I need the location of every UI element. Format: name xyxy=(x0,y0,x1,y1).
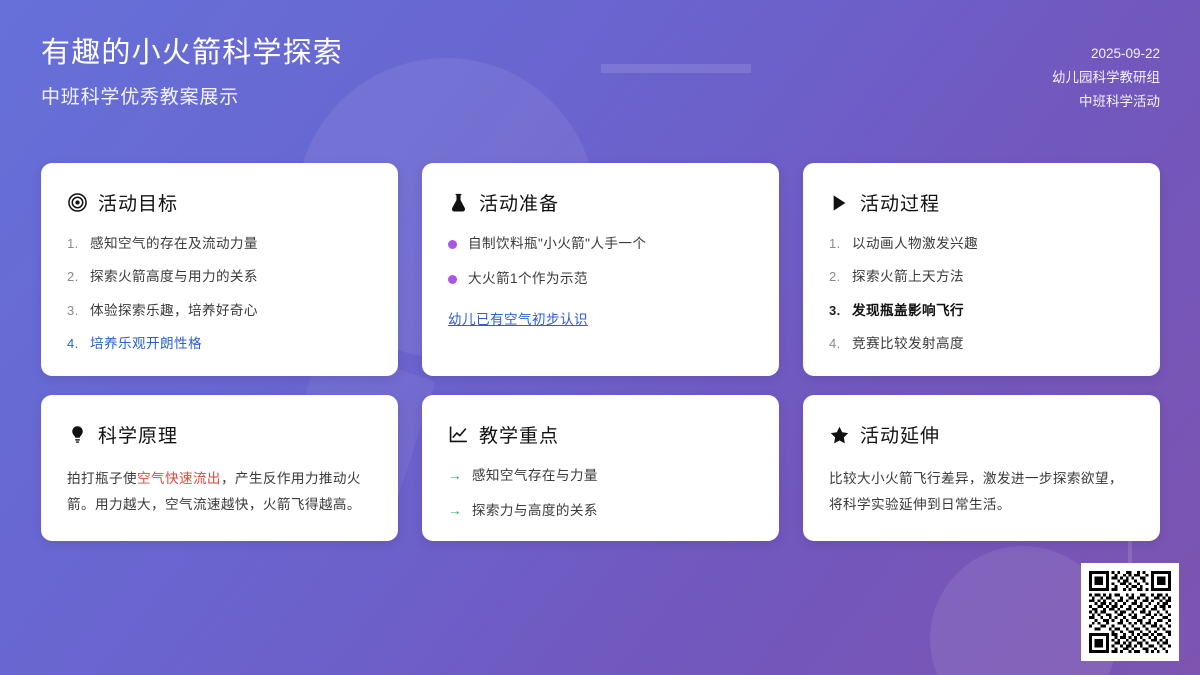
card-activity-process[interactable]: 活动过程 1. 以动画人物激发兴趣 2. 探索火箭上天方法 3. 发现瓶盖影响飞… xyxy=(803,163,1160,376)
card-teaching-focus[interactable]: 教学重点 → 感知空气存在与力量 → 探索力与高度的关系 xyxy=(422,395,779,541)
target-icon xyxy=(67,193,88,212)
header-date: 2025-09-22 xyxy=(1052,42,1160,66)
list-marker: 4. xyxy=(67,334,83,354)
paragraph-part: 拍打瓶子使 xyxy=(67,471,137,486)
list-item: 2. 探索火箭高度与用力的关系 xyxy=(67,267,372,287)
lightbulb-icon xyxy=(67,425,88,444)
bullet-dot-icon xyxy=(448,240,457,249)
line-chart-icon xyxy=(448,426,469,443)
list-text: 以动画人物激发兴趣 xyxy=(852,234,978,254)
list-text: 探索火箭上天方法 xyxy=(852,267,964,287)
principle-paragraph: 拍打瓶子使空气快速流出，产生反作用力推动火箭。用力越大，空气流速越快，火箭飞得越… xyxy=(67,466,372,518)
paragraph-highlight: 空气快速流出 xyxy=(137,471,221,486)
card-grid: 活动目标 1. 感知空气的存在及流动力量 2. 探索火箭高度与用力的关系 3. … xyxy=(41,163,1159,541)
card-header: 活动准备 xyxy=(448,189,753,216)
list-item: → 探索力与高度的关系 xyxy=(448,501,753,521)
list-text: 发现瓶盖影响飞行 xyxy=(852,301,964,321)
card-title: 活动准备 xyxy=(479,189,559,216)
slide-header: 有趣的小火箭科学探索 中班科学优秀教案展示 2025-09-22 幼儿园科学教研… xyxy=(0,0,1200,140)
list-text: 竞赛比较发射高度 xyxy=(852,334,964,354)
list-text: 自制饮料瓶"小火箭"人手一个 xyxy=(468,234,646,254)
header-organization: 幼儿园科学教研组 xyxy=(1052,66,1160,90)
card-activity-extension[interactable]: 活动延伸 比较大小火箭飞行差异，激发进一步探索欲望，将科学实验延伸到日常生活。 xyxy=(803,395,1160,541)
card-activity-goals[interactable]: 活动目标 1. 感知空气的存在及流动力量 2. 探索火箭高度与用力的关系 3. … xyxy=(41,163,398,376)
card-title: 科学原理 xyxy=(98,421,178,448)
header-category: 中班科学活动 xyxy=(1052,90,1160,114)
slide-root: 有趣的小火箭科学探索 中班科学优秀教案展示 2025-09-22 幼儿园科学教研… xyxy=(0,0,1200,675)
card-title: 活动延伸 xyxy=(860,421,940,448)
list-item: 4. 竞赛比较发射高度 xyxy=(829,334,1134,354)
list-text: 培养乐观开朗性格 xyxy=(90,334,202,354)
list-text: 感知空气的存在及流动力量 xyxy=(90,234,258,254)
card-title: 活动目标 xyxy=(98,189,178,216)
focus-list: → 感知空气存在与力量 → 探索力与高度的关系 xyxy=(448,466,753,522)
arrow-right-icon: → xyxy=(448,501,462,521)
list-marker: 2. xyxy=(67,267,83,287)
header-meta: 2025-09-22 幼儿园科学教研组 中班科学活动 xyxy=(1052,34,1160,114)
card-header: 活动目标 xyxy=(67,189,372,216)
card-header: 科学原理 xyxy=(67,421,372,448)
page-title: 有趣的小火箭科学探索 xyxy=(41,34,343,73)
list-item: 大火箭1个作为示范 xyxy=(448,269,753,289)
flask-icon xyxy=(448,193,469,212)
list-marker: 1. xyxy=(829,234,845,254)
card-title: 教学重点 xyxy=(479,421,559,448)
play-triangle-icon xyxy=(829,194,850,212)
list-text: 探索火箭高度与用力的关系 xyxy=(90,267,258,287)
goal-list: 1. 感知空气的存在及流动力量 2. 探索火箭高度与用力的关系 3. 体验探索乐… xyxy=(67,234,372,355)
list-item: 1. 感知空气的存在及流动力量 xyxy=(67,234,372,254)
card-title: 活动过程 xyxy=(860,189,940,216)
list-text: 感知空气存在与力量 xyxy=(472,466,598,486)
list-item: 自制饮料瓶"小火箭"人手一个 xyxy=(448,234,753,254)
card-header: 活动过程 xyxy=(829,189,1134,216)
list-text: 体验探索乐趣，培养好奇心 xyxy=(90,301,258,321)
list-marker: 3. xyxy=(67,301,83,321)
star-icon xyxy=(829,426,850,444)
list-item-highlighted[interactable]: 4. 培养乐观开朗性格 xyxy=(67,334,372,354)
extension-paragraph: 比较大小火箭飞行差异，激发进一步探索欲望，将科学实验延伸到日常生活。 xyxy=(829,466,1134,518)
card-header: 教学重点 xyxy=(448,421,753,448)
list-text: 大火箭1个作为示范 xyxy=(468,269,588,289)
card-activity-preparation[interactable]: 活动准备 自制饮料瓶"小火箭"人手一个 大火箭1个作为示范 幼儿已有空气初步认识 xyxy=(422,163,779,376)
list-item: 2. 探索火箭上天方法 xyxy=(829,267,1134,287)
list-marker: 2. xyxy=(829,267,845,287)
list-marker: 3. xyxy=(829,301,845,321)
preparation-list: 自制饮料瓶"小火箭"人手一个 大火箭1个作为示范 xyxy=(448,234,753,290)
page-subtitle: 中班科学优秀教案展示 xyxy=(41,82,343,109)
list-item: 1. 以动画人物激发兴趣 xyxy=(829,234,1134,254)
list-marker: 1. xyxy=(67,234,83,254)
list-text: 探索力与高度的关系 xyxy=(472,501,598,521)
header-left: 有趣的小火箭科学探索 中班科学优秀教案展示 xyxy=(41,34,343,109)
list-item-highlighted: 3. 发现瓶盖影响飞行 xyxy=(829,301,1134,321)
list-marker: 4. xyxy=(829,334,845,354)
qr-code-image xyxy=(1089,571,1171,653)
card-header: 活动延伸 xyxy=(829,421,1134,448)
list-item: → 感知空气存在与力量 xyxy=(448,466,753,486)
arrow-right-icon: → xyxy=(448,466,462,486)
qr-code[interactable] xyxy=(1081,563,1179,661)
list-item: 3. 体验探索乐趣，培养好奇心 xyxy=(67,301,372,321)
card-science-principle[interactable]: 科学原理 拍打瓶子使空气快速流出，产生反作用力推动火箭。用力越大，空气流速越快，… xyxy=(41,395,398,541)
bullet-dot-icon xyxy=(448,275,457,284)
preparation-link[interactable]: 幼儿已有空气初步认识 xyxy=(448,308,588,328)
process-list: 1. 以动画人物激发兴趣 2. 探索火箭上天方法 3. 发现瓶盖影响飞行 4. … xyxy=(829,234,1134,355)
